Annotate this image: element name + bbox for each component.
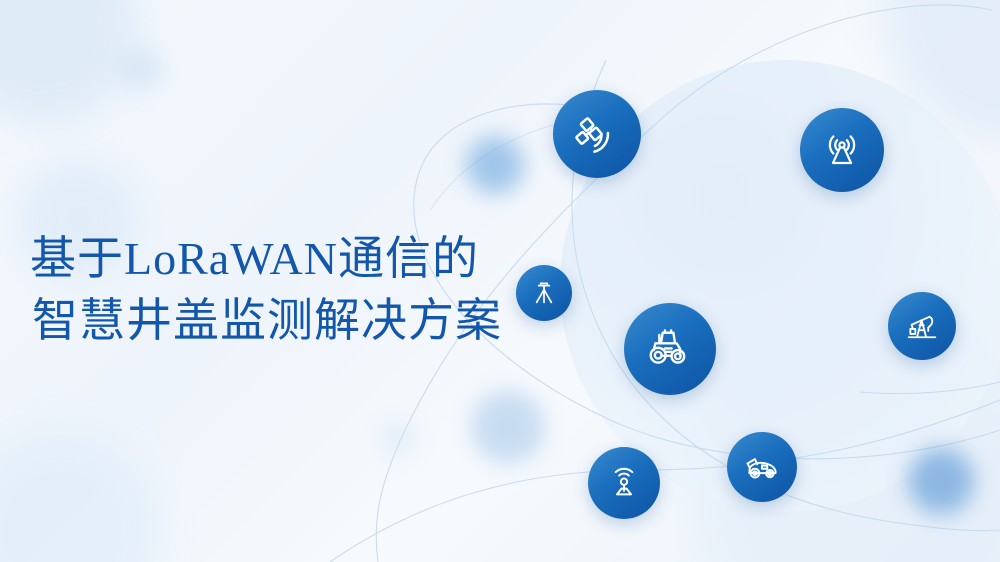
cover-slide: 基于LoRaWAN通信的 智慧井盖监测解决方案 — [0, 0, 1000, 562]
radio-tower-icon — [818, 126, 866, 174]
slide-title: 基于LoRaWAN通信的 智慧井盖监测解决方案 — [30, 228, 502, 352]
node-survey-tripod — [516, 265, 572, 321]
background-blob-top-right — [880, 0, 1000, 140]
oil-pumpjack-icon — [902, 306, 942, 346]
node-signal-beacon — [588, 447, 660, 519]
tractor-icon — [643, 322, 697, 376]
node-harvester-vehicle — [727, 432, 797, 502]
node-radio-tower — [800, 108, 884, 192]
background-blob-top-left — [0, 0, 138, 124]
survey-tripod-icon — [528, 277, 560, 309]
node-tractor — [624, 303, 716, 395]
background-blob-bottom-left — [0, 430, 160, 562]
title-line-2: 智慧井盖监测解决方案 — [30, 290, 502, 352]
harvester-vehicle-icon — [741, 446, 783, 488]
title-line-1: 基于LoRaWAN通信的 — [30, 228, 502, 290]
node-satellite — [553, 90, 641, 178]
background-dot-1 — [466, 136, 524, 194]
background-dot-3 — [908, 448, 974, 514]
signal-beacon-icon — [603, 462, 645, 504]
background-blob-bottom-right — [690, 300, 1000, 562]
node-oil-pumpjack — [888, 292, 956, 360]
background-dot-2 — [471, 390, 545, 464]
background-dot-5 — [380, 420, 416, 456]
satellite-signal-icon — [572, 109, 622, 159]
background-dot-4 — [118, 46, 164, 92]
